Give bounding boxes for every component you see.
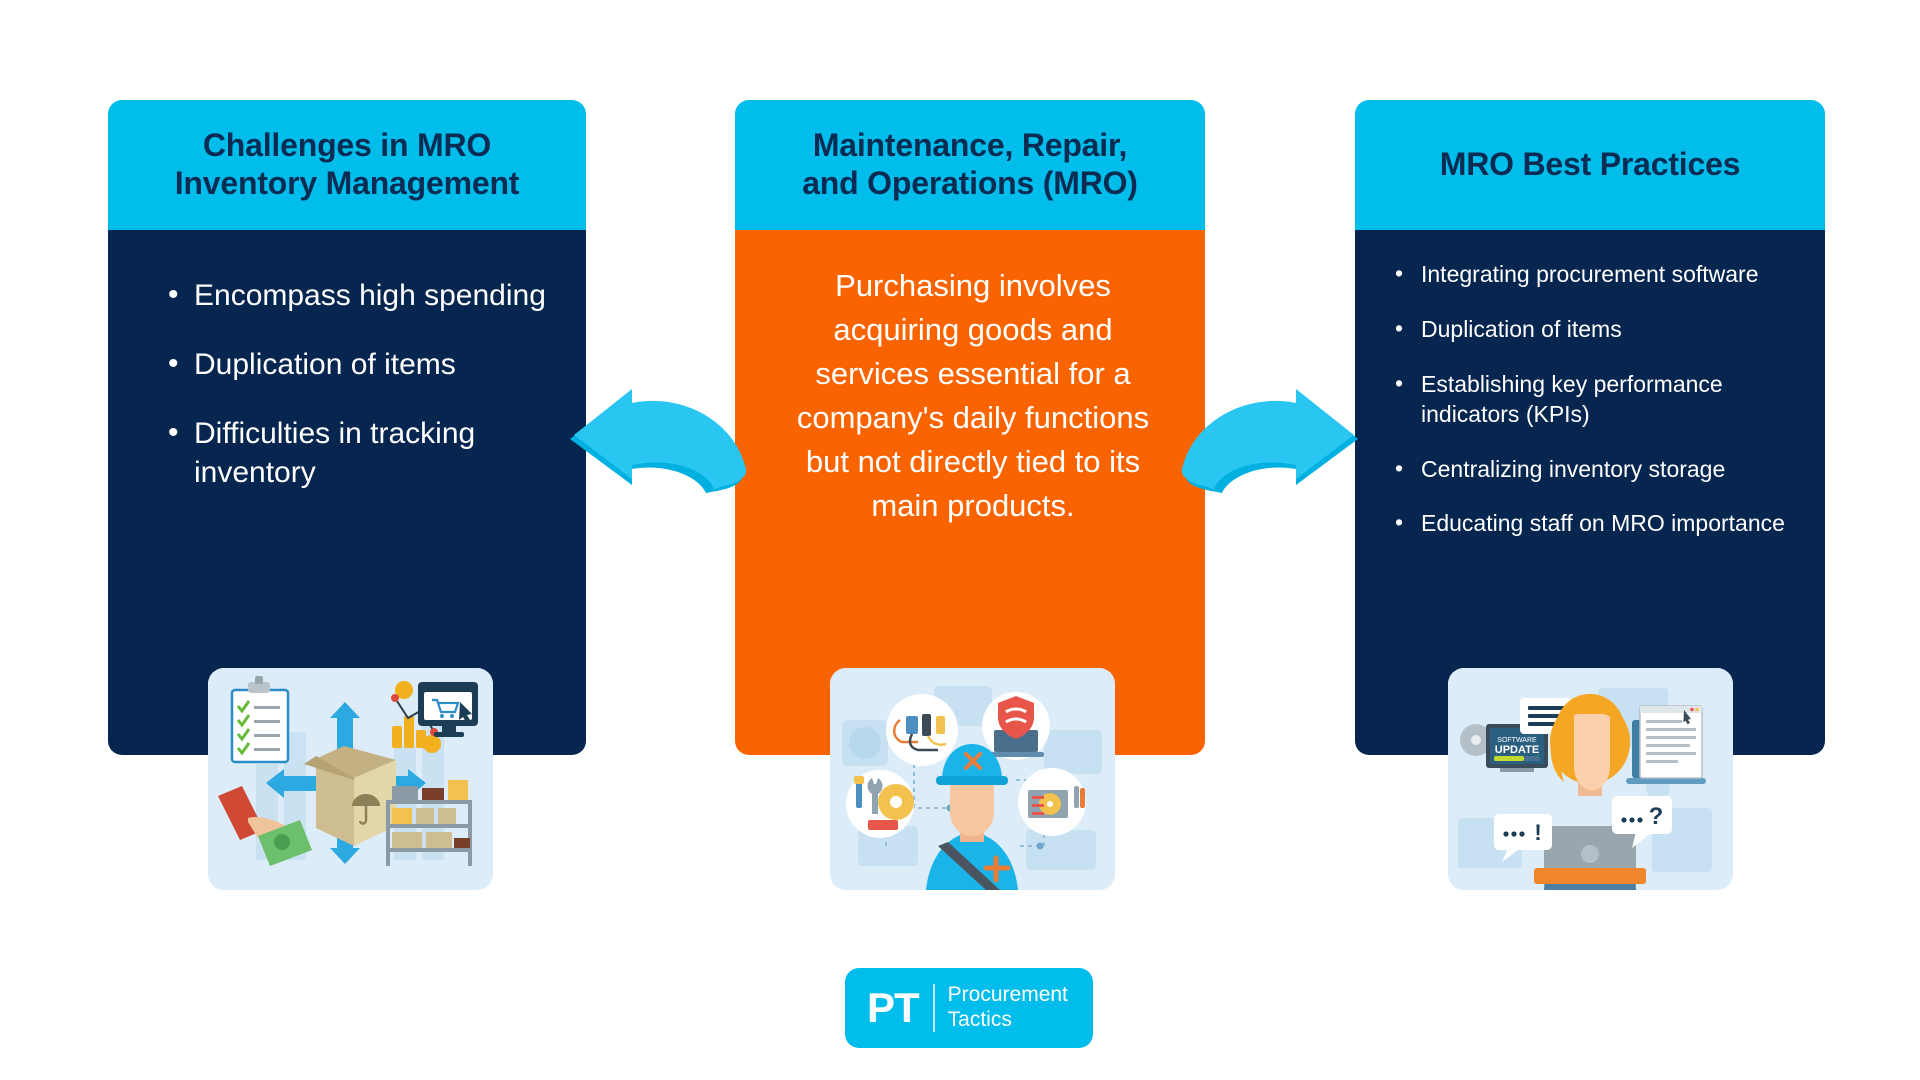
svg-text:UPDATE: UPDATE bbox=[1495, 744, 1539, 756]
list-item: Difficulties in tracking inventory bbox=[164, 414, 556, 492]
card-left-title-line1: Challenges in MRO bbox=[175, 127, 520, 165]
list-item: Duplication of items bbox=[164, 345, 556, 384]
logo-monogram: PT bbox=[867, 987, 919, 1029]
card-left-title: Challenges in MRO Inventory Management bbox=[108, 100, 586, 230]
staff-education-illustration: SOFTWARE UPDATE bbox=[1448, 668, 1733, 890]
list-item: Integrating procurement software bbox=[1391, 260, 1795, 290]
logo-divider bbox=[933, 984, 935, 1032]
svg-text:SOFTWARE: SOFTWARE bbox=[1497, 737, 1537, 744]
logo-word-line2: Tactics bbox=[948, 1008, 1068, 1033]
mro-definition-paragraph: Purchasing involves acquiring goods and … bbox=[771, 256, 1175, 528]
card-center-title: Maintenance, Repair, and Operations (MRO… bbox=[735, 100, 1205, 230]
best-practices-bullet-list: Integrating procurement software Duplica… bbox=[1391, 260, 1795, 539]
list-item: Centralizing inventory storage bbox=[1391, 455, 1795, 485]
card-right-title: MRO Best Practices bbox=[1355, 100, 1825, 230]
list-item: Encompass high spending bbox=[164, 276, 556, 315]
curved-arrow-left-icon bbox=[565, 385, 750, 495]
maintenance-technician-illustration bbox=[830, 668, 1115, 890]
card-best-practices: MRO Best Practices Integrating procureme… bbox=[1355, 100, 1825, 755]
svg-text:!: ! bbox=[1534, 820, 1541, 845]
procurement-tactics-logo: PT Procurement Tactics bbox=[845, 968, 1093, 1048]
logo-word-line1: Procurement bbox=[948, 983, 1068, 1008]
inventory-management-illustration bbox=[208, 668, 493, 890]
curved-arrow-right-icon bbox=[1178, 385, 1363, 495]
logo-wordmark: Procurement Tactics bbox=[948, 983, 1068, 1033]
infographic-canvas: Challenges in MRO Inventory Management E… bbox=[0, 0, 1920, 1080]
card-mro-definition: Maintenance, Repair, and Operations (MRO… bbox=[735, 100, 1205, 755]
card-left-title-line2: Inventory Management bbox=[175, 165, 520, 203]
list-item: Educating staff on MRO importance bbox=[1391, 509, 1795, 539]
card-center-title-line1: Maintenance, Repair, bbox=[802, 127, 1138, 165]
svg-text:?: ? bbox=[1649, 803, 1664, 830]
challenges-bullet-list: Encompass high spending Duplication of i… bbox=[164, 276, 556, 492]
card-right-title-text: MRO Best Practices bbox=[1440, 146, 1741, 184]
list-item: Establishing key performance indicators … bbox=[1391, 370, 1795, 430]
card-challenges: Challenges in MRO Inventory Management E… bbox=[108, 100, 586, 755]
list-item: Duplication of items bbox=[1391, 315, 1795, 345]
card-center-title-line2: and Operations (MRO) bbox=[802, 165, 1138, 203]
